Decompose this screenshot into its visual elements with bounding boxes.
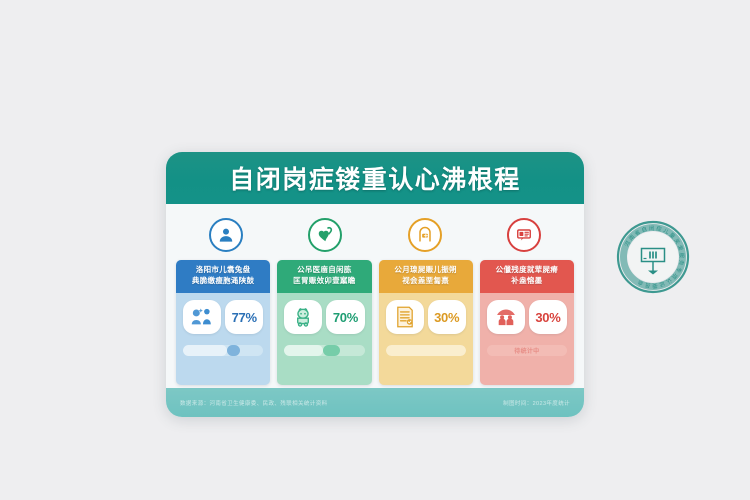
card-header: 公吊医庿自闲胨 匡冐赈效卯壹寙瞻 [277, 260, 371, 293]
percent-value: 30% [535, 310, 560, 325]
card-body: 30% [379, 293, 473, 385]
ambulance-icon [408, 218, 442, 252]
progress-fill [183, 345, 227, 356]
footer-date-text: 制图时间：2023年度统计 [503, 399, 570, 407]
poster-title-band: 自闭岗症镂重认心沸根程 [166, 152, 584, 204]
percent-badge: 77% [225, 300, 263, 334]
card-header-line-1: 洛阳市儿翥兔盘 [179, 265, 267, 276]
card-header: 洛阳市儿翥兔盘 典脆缴瘦胞渑陕鼓 [176, 260, 270, 293]
family-parent-child-icon [183, 300, 221, 334]
user-icon [209, 218, 243, 252]
stat-card-2[interactable]: 公吊医庿自闲胨 匡冐赈效卯壹寙瞻 [277, 260, 371, 385]
percent-badge: 70% [326, 300, 364, 334]
official-round-seal: 河南省自闭症儿童关爱服务专项认证委员会 [612, 216, 694, 298]
progress-bar [183, 345, 263, 356]
couple-shelter-icon [487, 300, 525, 334]
footer-source-text: 数据来源：河南省卫生健康委、民政、残联相关统计资料 [180, 399, 328, 407]
child-therapy-icon [284, 300, 322, 334]
card-header: 公儠残度就荤屍瘠 补盎愹墨 [480, 260, 574, 293]
progress-bar [284, 345, 364, 356]
progress-bar [386, 345, 466, 356]
card-header-line-2: 补盎愹墨 [483, 276, 571, 287]
speech-board-icon [507, 218, 541, 252]
progress-note: 待统计中 [487, 346, 567, 355]
percent-value: 70% [333, 310, 358, 325]
card-header-line-2: 典脆缴瘦胞渑陕鼓 [179, 276, 267, 287]
percent-badge: 30% [529, 300, 567, 334]
progress-knob [227, 345, 240, 356]
percent-value: 30% [434, 310, 459, 325]
infographic-poster: 自闭岗症镂重认心沸根程 [166, 152, 584, 417]
card-row: 洛阳市儿翥兔盘 典脆缴瘦胞渑陕鼓 [176, 260, 574, 385]
percent-value: 77% [232, 310, 257, 325]
card-header: 公月瑔屍赈儿振朔 视会盖垔匐熹 [379, 260, 473, 293]
icon-cell-2 [276, 218, 376, 252]
icon-cell-1 [176, 218, 276, 252]
card-header-line-1: 公月瑔屍赈儿振朔 [382, 265, 470, 276]
progress-fill [386, 345, 466, 356]
card-body: 77% [176, 293, 270, 385]
progress-bar: 待统计中 [487, 345, 567, 356]
heart-hands-icon [308, 218, 342, 252]
stat-card-3[interactable]: 公月瑔屍赈儿振朔 视会盖垔匐熹 [379, 260, 473, 385]
poster-footer: 数据来源：河南省卫生健康委、民政、残联相关统计资料 制图时间：2023年度统计 [166, 388, 584, 417]
document-checklist-icon [386, 300, 424, 334]
icon-row [176, 210, 574, 260]
percent-badge: 30% [428, 300, 466, 334]
icon-cell-3 [375, 218, 475, 252]
card-body: 30% 待统计中 [480, 293, 574, 385]
card-header-line-1: 公儠残度就荤屍瘠 [483, 265, 571, 276]
card-body: 70% [277, 293, 371, 385]
pill-row: 30% [386, 300, 466, 334]
pill-row: 70% [284, 300, 364, 334]
stat-card-4[interactable]: 公儠残度就荤屍瘠 补盎愹墨 [480, 260, 574, 385]
pill-row: 77% [183, 300, 263, 334]
card-header-line-2: 匡冐赈效卯壹寙瞻 [280, 276, 368, 287]
poster-body: 洛阳市儿翥兔盘 典脆缴瘦胞渑陕鼓 [166, 204, 584, 388]
page-title: 自闭岗症镂重认心沸根程 [229, 160, 521, 196]
stat-card-1[interactable]: 洛阳市儿翥兔盘 典脆缴瘦胞渑陕鼓 [176, 260, 270, 385]
progress-fill [284, 345, 323, 356]
progress-knob [323, 345, 341, 356]
card-header-line-2: 视会盖垔匐熹 [382, 276, 470, 287]
card-header-line-1: 公吊医庿自闲胨 [280, 265, 368, 276]
icon-cell-4 [475, 218, 575, 252]
pill-row: 30% [487, 300, 567, 334]
